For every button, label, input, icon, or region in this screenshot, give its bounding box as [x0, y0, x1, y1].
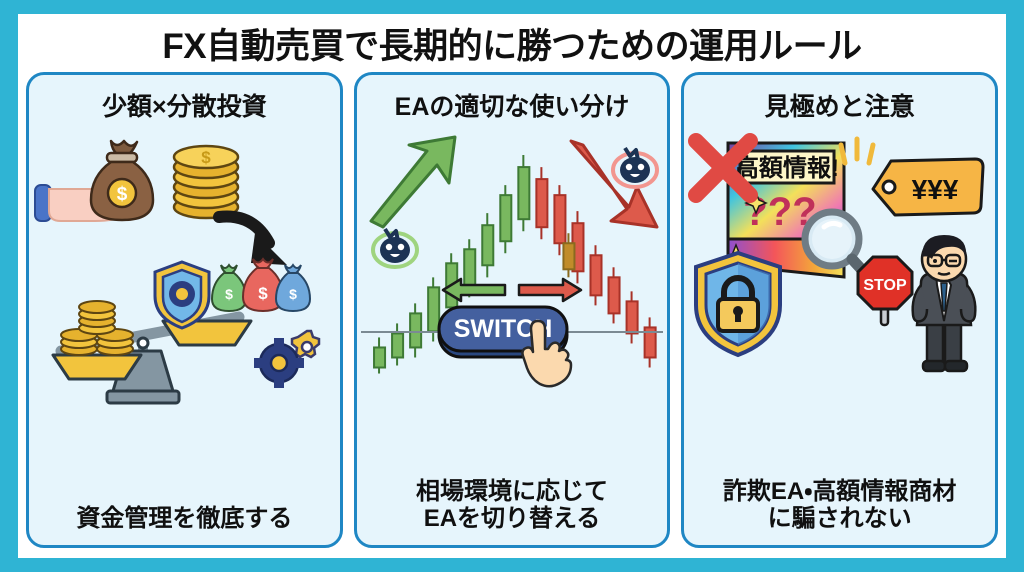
panel-ea-switching-art: SWITCH	[357, 127, 668, 477]
robot-icon	[609, 143, 661, 189]
robot-icon	[369, 225, 421, 269]
caption-line: 資金管理を徹底する	[33, 506, 336, 533]
panels-row: 少額×分散投資	[18, 72, 1006, 558]
svg-text:$: $	[289, 286, 297, 302]
panel-scam-warning-title: 見極めと注意	[684, 75, 995, 127]
page-title: FX自動売買で長期的に勝つための運用ルール	[162, 18, 861, 69]
caption-line: 詐欺EA・高額情報商材	[688, 479, 991, 506]
infographic-canvas: FX自動売買で長期的に勝つための運用ルール 少額×分散投資	[18, 14, 1006, 558]
svg-text:$: $	[201, 148, 211, 167]
stop-sign-label: STOP	[863, 277, 907, 294]
svg-text:$: $	[225, 286, 233, 302]
price-tag-icon: ¥¥¥	[867, 153, 985, 223]
infographic-root: FX自動売買で長期的に勝つための運用ルール 少額×分散投資	[0, 0, 1024, 572]
title-bar: FX自動売買で長期的に勝つための運用ルール	[18, 14, 1006, 72]
svg-text:$: $	[117, 184, 128, 205]
price-tag-label: ¥¥¥	[912, 174, 959, 205]
panel-capital-art: $	[29, 127, 340, 504]
caption-line: 相場環境に応じて	[361, 479, 664, 506]
caption-line: EAを切り替える	[361, 506, 664, 533]
panel-ea-switching-title: EAの適切な使い分け	[357, 75, 668, 127]
red-x-icon	[686, 131, 760, 205]
shield-gear-icon	[151, 259, 213, 331]
switch-control[interactable]: SWITCH	[427, 299, 597, 377]
panel-capital-caption: 資金管理を徹底する	[29, 504, 340, 545]
caption-line: に騙されない	[688, 506, 991, 533]
panel-capital: 少額×分散投資	[26, 72, 343, 548]
panel-scam-warning-art: 高額情報! ???	[684, 127, 995, 477]
panel-ea-switching-caption: 相場環境に応じて EAを切り替える	[357, 477, 668, 545]
stop-sign-icon: STOP	[855, 255, 915, 327]
money-bags-group-icon: $ $ $	[211, 257, 311, 319]
shield-lock-icon	[690, 249, 786, 359]
panel-capital-title: 少額×分散投資	[29, 75, 340, 127]
panel-ea-switching: EAの適切な使い分け	[354, 72, 671, 548]
gear-icon	[253, 327, 325, 389]
svg-text:$: $	[258, 284, 268, 303]
panel-scam-warning: 見極めと注意	[681, 72, 998, 548]
panel-scam-warning-caption: 詐欺EA・高額情報商材 に騙されない	[684, 477, 995, 545]
up-arrow-icon	[365, 135, 461, 227]
money-bag-icon: $	[87, 135, 161, 223]
